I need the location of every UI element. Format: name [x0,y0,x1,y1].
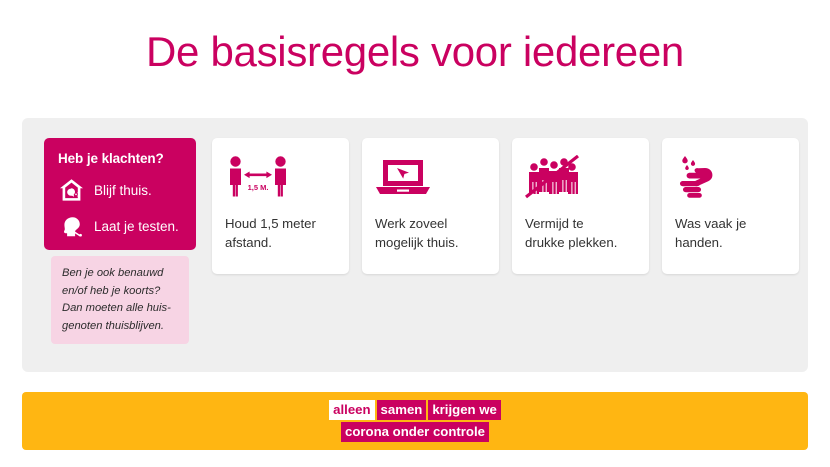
rule-card-text: Vermijd te drukke plekken. [525,214,636,252]
infographic-page: De basisregels voor iedereen Heb je klac… [0,0,830,467]
two-people-distance-icon: 1,5 M. [225,152,336,204]
house-with-face-icon [58,177,85,204]
household-note: Ben je ook benauwd en/of heb je koorts? … [51,256,189,344]
rule-card-distance: 1,5 M. Houd 1,5 meter afstand. [212,138,349,274]
rule-card-avoid-crowds: Vermijd te drukke plekken. [512,138,649,274]
rule-card-text: Houd 1,5 meter afstand. [225,214,336,252]
rule-text-line: afstand. [225,233,336,252]
rule-text-line: Was vaak je [675,214,786,233]
campaign-footer-banner: alleen samen krijgen we corona onder con… [22,392,808,450]
rule-text-line: drukke plekken. [525,233,636,252]
slogan-chip: krijgen we [428,400,501,420]
rule-text-line: Vermijd te [525,214,636,233]
slogan-line-1: alleen samen krijgen we [329,400,501,420]
rule-card-wash-hands: Was vaak je handen. [662,138,799,274]
complaints-item-label: Laat je testen. [94,219,179,234]
rule-text-line: handen. [675,233,786,252]
complaints-card-title: Heb je klachten? [58,151,182,166]
crowd-crossed-out-icon [525,152,636,204]
household-note-line: en/of heb je koorts? [62,283,178,301]
slogan-chip: corona onder controle [341,422,489,442]
household-note-line: Ben je ook benauwd [62,265,178,283]
complaints-item-label: Blijf thuis. [94,183,152,198]
washing-hands-icon [675,152,786,204]
household-note-line: Dan moeten alle huis- [62,300,178,318]
slogan-chip: alleen [329,400,374,420]
rule-text-line: Houd 1,5 meter [225,214,336,233]
slogan-line-2: corona onder controle [341,422,489,442]
page-title: De basisregels voor iedereen [0,28,830,76]
complaints-item-get-tested: Laat je testen. [58,213,182,240]
complaints-card: Heb je klachten? Blijf thuis. [44,138,196,250]
complaints-item-stay-home: Blijf thuis. [58,177,182,204]
head-with-swab-icon [58,213,85,240]
rule-card-text: Was vaak je handen. [675,214,786,252]
rules-panel: Heb je klachten? Blijf thuis. [22,118,808,372]
rule-card-text: Werk zoveel mogelijk thuis. [375,214,486,252]
rule-text-line: mogelijk thuis. [375,233,486,252]
distance-icon-label: 1,5 M. [248,183,269,192]
slogan-chip: samen [377,400,427,420]
rule-card-work-from-home: Werk zoveel mogelijk thuis. [362,138,499,274]
household-note-line: genoten thuisblijven. [62,318,178,336]
rule-text-line: Werk zoveel [375,214,486,233]
laptop-cursor-icon [375,152,486,204]
